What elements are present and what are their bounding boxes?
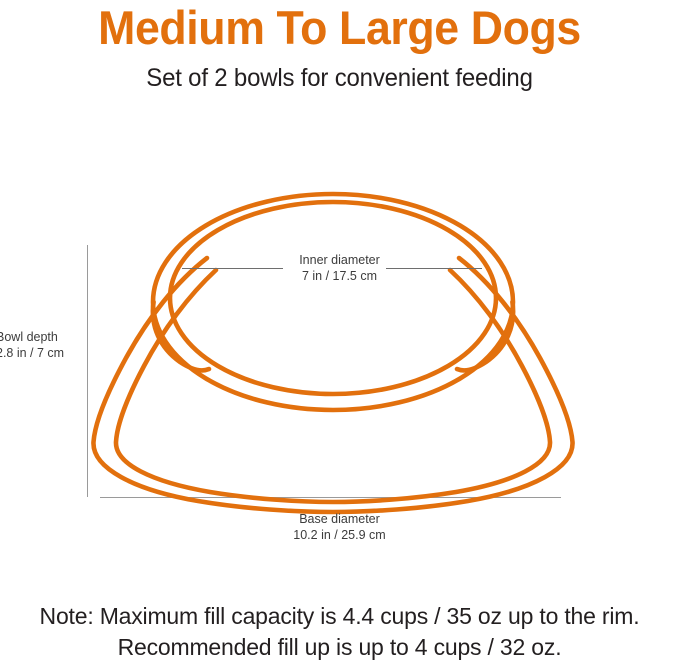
header: Medium To Large Dogs Set of 2 bowls for … [0, 0, 679, 93]
base-diameter-name: Base diameter [0, 512, 679, 528]
bowl-depth-value: 2.8 in / 7 cm [0, 346, 80, 362]
note-line-2: Recommended fill up is up to 4 cups / 32… [0, 632, 679, 663]
rim-inner-ellipse [170, 202, 496, 394]
bowl-outer-contour [93, 258, 572, 512]
bowl-body [93, 258, 572, 512]
inner-diameter-callout: Inner diameter 7 in / 17.5 cm [0, 253, 679, 284]
bowl-depth-callout: Bowl depth 2.8 in / 7 cm [0, 330, 80, 361]
bowl-inner-contour [116, 270, 550, 502]
bowl-illustration [0, 150, 679, 570]
rim-outer-ellipse [153, 194, 513, 410]
page-title: Medium To Large Dogs [17, 0, 662, 54]
base-diameter-value: 10.2 in / 25.9 cm [0, 528, 679, 544]
base-diameter-callout: Base diameter 10.2 in / 25.9 cm [0, 512, 679, 543]
product-infographic: Medium To Large Dogs Set of 2 bowls for … [0, 0, 679, 668]
bowl-dimension-diagram: Inner diameter 7 in / 17.5 cm Bowl depth… [0, 150, 679, 570]
bowl-rim [153, 194, 513, 410]
note-line-1: Note: Maximum fill capacity is 4.4 cups … [0, 601, 679, 632]
inner-diameter-value: 7 in / 17.5 cm [0, 269, 679, 285]
page-subtitle: Set of 2 bowls for convenient feeding [14, 54, 666, 93]
fill-capacity-note: Note: Maximum fill capacity is 4.4 cups … [0, 601, 679, 663]
bowl-depth-name: Bowl depth [0, 330, 80, 346]
inner-diameter-name: Inner diameter [0, 253, 679, 269]
